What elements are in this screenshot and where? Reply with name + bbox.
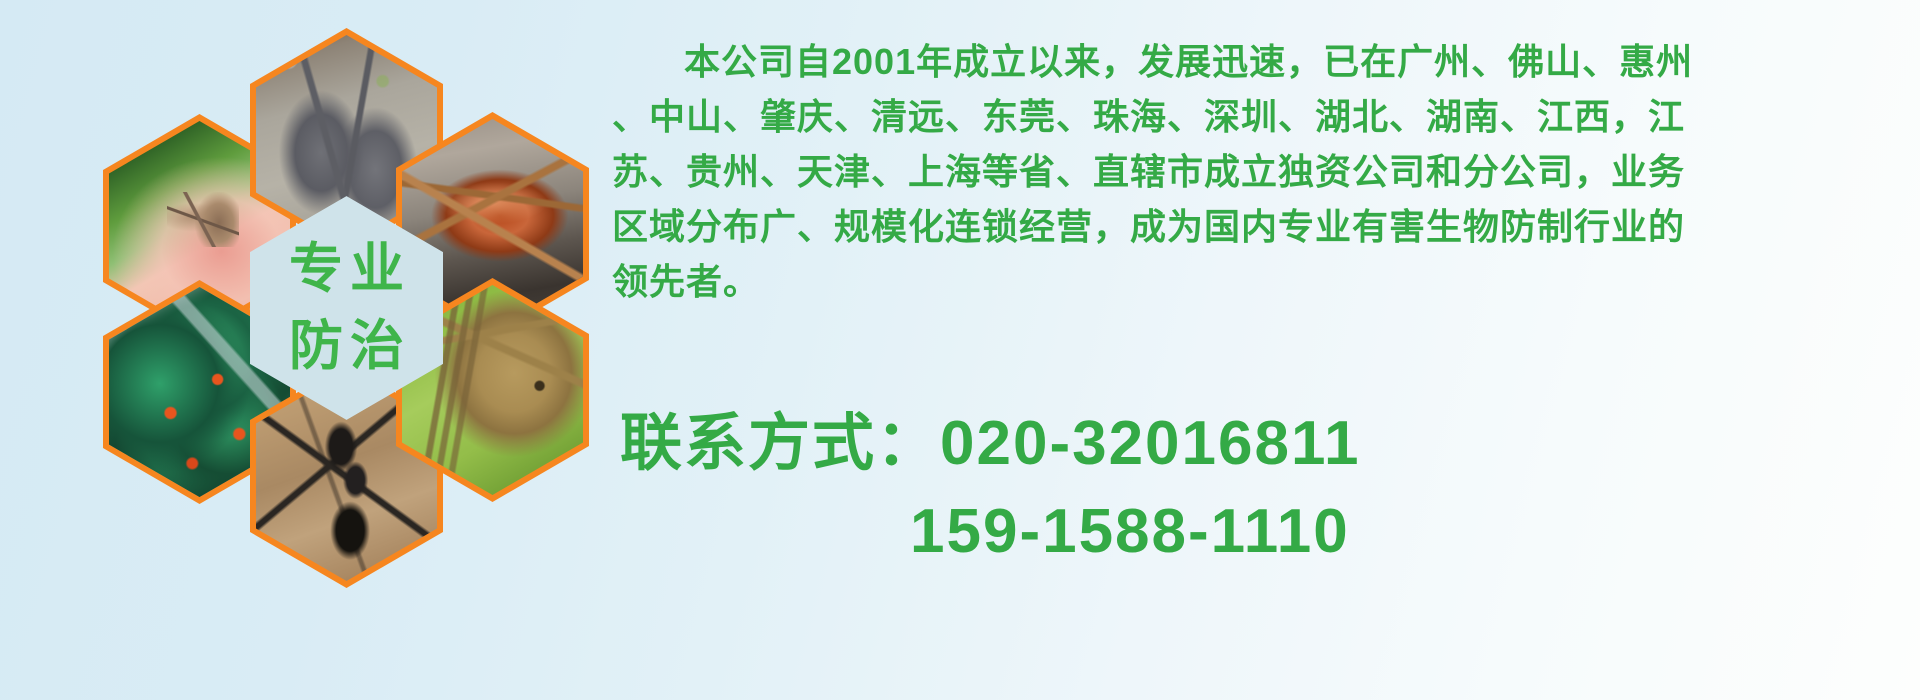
intro-line-2: 、中山、肇庆、清远、东莞、珠海、深圳、湖北、湖南、江西，江: [612, 89, 1908, 144]
slogan-line-2: 防治: [282, 308, 411, 385]
intro-line-3: 苏、贵州、天津、上海等省、直辖市成立独资公司和分公司，业务: [612, 144, 1908, 199]
intro-line-4: 区域分布广、规模化连锁经营，成为国内专业有害生物防制行业的: [612, 199, 1908, 254]
contact-mobile[interactable]: 159-1588-1110: [620, 488, 1910, 576]
honeycomb-photo-cluster: 专业 防治: [0, 0, 600, 700]
intro-line-1: 本公司自2001年成立以来，发展迅速，已在广州、佛山、惠州: [612, 34, 1908, 89]
intro-line-5: 领先者。: [612, 254, 1908, 309]
contact-block: 联系方式：020-32016811 159-1588-1110: [620, 400, 1910, 576]
contact-label-and-landline[interactable]: 联系方式：020-32016811: [620, 400, 1910, 488]
company-intro-paragraph: 本公司自2001年成立以来，发展迅速，已在广州、佛山、惠州 、中山、肇庆、清远、…: [612, 34, 1908, 309]
slogan-line-1: 专业: [282, 231, 411, 308]
promo-banner: 专业 防治 本公司自2001年成立以来，发展迅速，已在广州、佛山、惠州 、中山、…: [0, 0, 1920, 700]
